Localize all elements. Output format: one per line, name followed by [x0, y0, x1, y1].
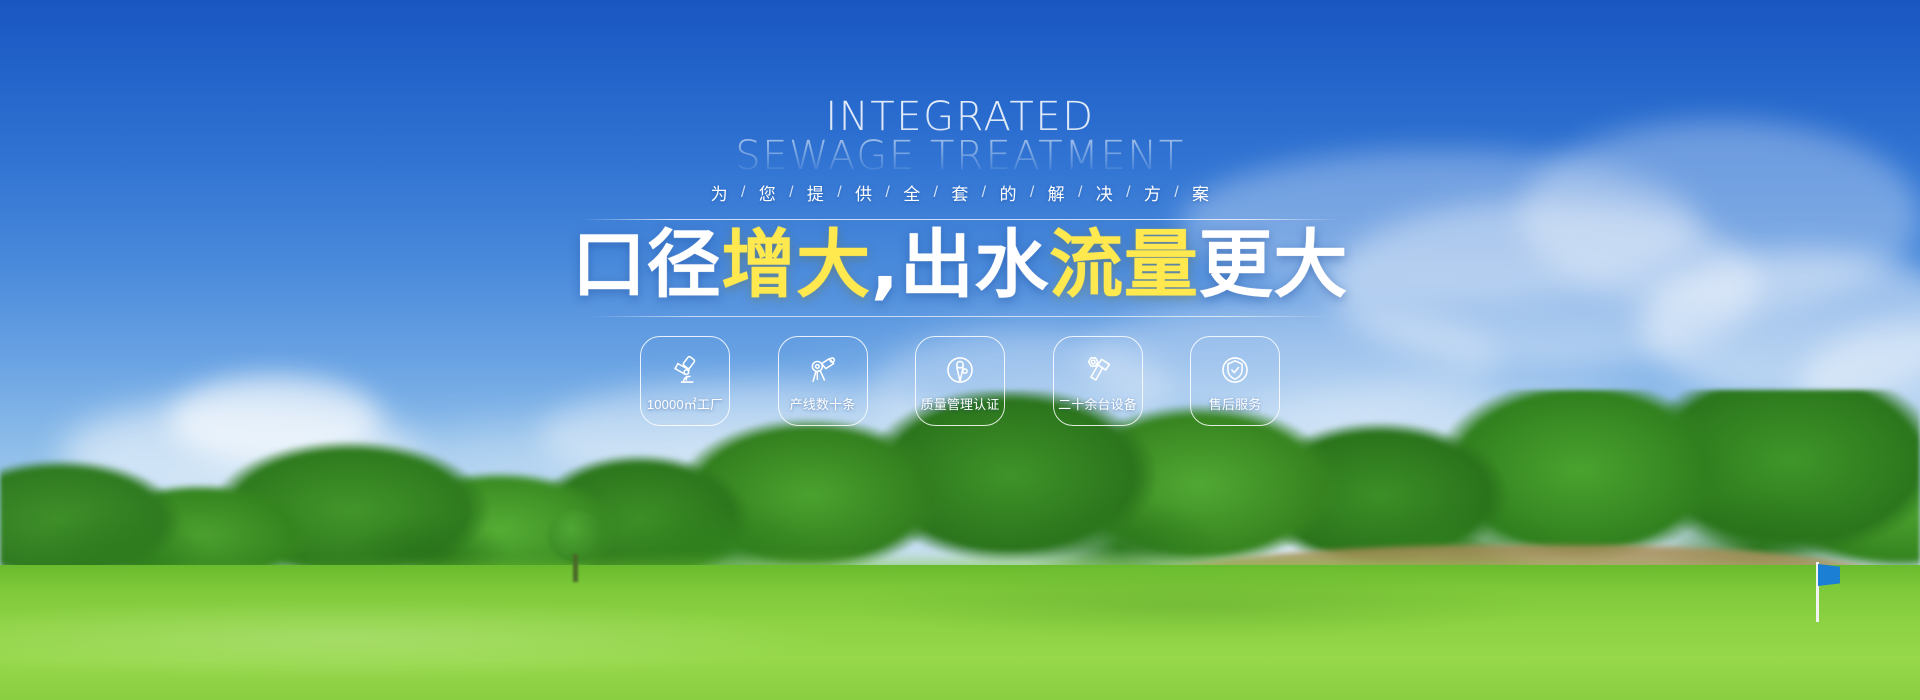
shield-check-icon [1218, 353, 1252, 387]
subtitle-separator: / [1030, 184, 1035, 202]
medal-certificate-icon [943, 353, 977, 387]
subtitle-word: 套 [938, 180, 981, 205]
feature-badge-list: 10000㎡工厂 产线数十条 [640, 336, 1280, 426]
subtitle-separator: / [1078, 184, 1083, 202]
headline-segment-accent: 增大 [721, 222, 870, 308]
subtitle-separator: / [789, 184, 794, 202]
feature-badge-production-lines[interactable]: 产线数十条 [778, 336, 868, 426]
feature-badge-after-sales[interactable]: 售后服务 [1190, 336, 1280, 426]
subtitle-separator: / [1174, 184, 1179, 202]
subtitle-word: 的 [986, 180, 1029, 205]
english-heading: INTEGRATED SEWAGE TREATMENT [460, 98, 1460, 176]
feature-badge-label: 二十余台设备 [1058, 394, 1137, 413]
page-title: 口径增大,出水流量更大 [310, 228, 1610, 302]
headline-segment: 更大 [1199, 222, 1348, 308]
bolt-wrench-icon [1081, 353, 1115, 387]
subtitle-word: 案 [1179, 180, 1222, 205]
headline-divider [590, 316, 1330, 317]
subtitle-separator: / [1126, 184, 1131, 202]
subtitle-words: 为 / 您 / 提 / 供 / 全 / 套 / 的 / 解 / 决 / 方 / [580, 180, 1340, 205]
hero-banner: INTEGRATED SEWAGE TREATMENT 为 / 您 / 提 / … [0, 0, 1920, 700]
headline-segment: 出水 [900, 222, 1049, 308]
subtitle-separator: / [982, 184, 987, 202]
subtitle-word: 解 [1035, 180, 1078, 205]
subtitle-word: 方 [1131, 180, 1174, 205]
subtitle-word: 提 [794, 180, 837, 205]
subtitle-divider [580, 219, 1340, 220]
headline-segment-accent: 流量 [1049, 222, 1198, 308]
subtitle-block: 为 / 您 / 提 / 供 / 全 / 套 / 的 / 解 / 决 / 方 / [580, 180, 1340, 220]
feature-badge-equipment[interactable]: 二十余台设备 [1053, 336, 1143, 426]
feature-badge-factory[interactable]: 10000㎡工厂 [640, 336, 730, 426]
subtitle-separator: / [837, 184, 842, 202]
subtitle-word: 为 [698, 180, 741, 205]
feature-badge-label: 售后服务 [1209, 394, 1262, 413]
microscope-icon [668, 353, 702, 387]
headline-segment: , [871, 222, 900, 308]
subtitle-separator: / [741, 184, 746, 202]
subtitle-word: 决 [1083, 180, 1126, 205]
english-heading-line1: INTEGRATED [460, 98, 1460, 137]
feature-badge-quality-certification[interactable]: 质量管理认证 [915, 336, 1005, 426]
telescope-icon [806, 353, 840, 387]
english-heading-line2: SEWAGE TREATMENT [460, 137, 1460, 176]
banner-content: INTEGRATED SEWAGE TREATMENT 为 / 您 / 提 / … [0, 0, 1920, 700]
feature-badge-label: 质量管理认证 [921, 394, 1000, 413]
subtitle-word: 全 [890, 180, 933, 205]
subtitle-word: 供 [842, 180, 885, 205]
subtitle-separator: / [885, 184, 890, 202]
feature-badge-label: 产线数十条 [790, 394, 856, 413]
subtitle-separator: / [934, 184, 939, 202]
headline-segment: 口径 [572, 222, 721, 308]
subtitle-word: 您 [746, 180, 789, 205]
feature-badge-label: 10000㎡工厂 [647, 394, 723, 413]
